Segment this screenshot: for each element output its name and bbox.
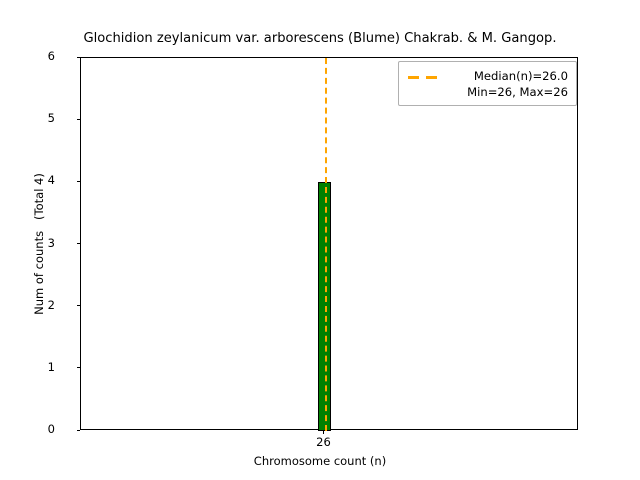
plot-area: [80, 57, 578, 430]
y-axis-tick-label: 3: [15, 238, 55, 250]
legend-item-minmax: Min=26, Max=26: [452, 85, 568, 101]
y-axis-tick-label: 1: [15, 362, 55, 374]
median-line: [325, 58, 327, 431]
legend-box: Median(n)=26.0 Min=26, Max=26: [398, 61, 577, 106]
x-axis-tick-label: 26: [294, 436, 354, 449]
y-axis-tick-label: 2: [15, 300, 55, 312]
y-axis-tick-label: 6: [15, 51, 55, 63]
x-axis-tick-mark: [323, 430, 324, 434]
legend-dashed-line-icon: [408, 71, 444, 84]
y-axis-tick-label: 0: [15, 424, 55, 436]
legend-item-median: Median(n)=26.0: [452, 69, 568, 85]
legend-labels: Median(n)=26.0 Min=26, Max=26: [452, 69, 568, 100]
x-axis-label: Chromosome count (n): [0, 455, 640, 468]
page-title: Glochidion zeylanicum var. arborescens (…: [0, 31, 640, 47]
chart-figure: Glochidion zeylanicum var. arborescens (…: [0, 0, 640, 480]
y-axis-tick-label: 4: [15, 175, 55, 187]
legend-content: Median(n)=26.0 Min=26, Max=26: [399, 62, 576, 105]
y-axis-tick-label: 5: [15, 113, 55, 125]
